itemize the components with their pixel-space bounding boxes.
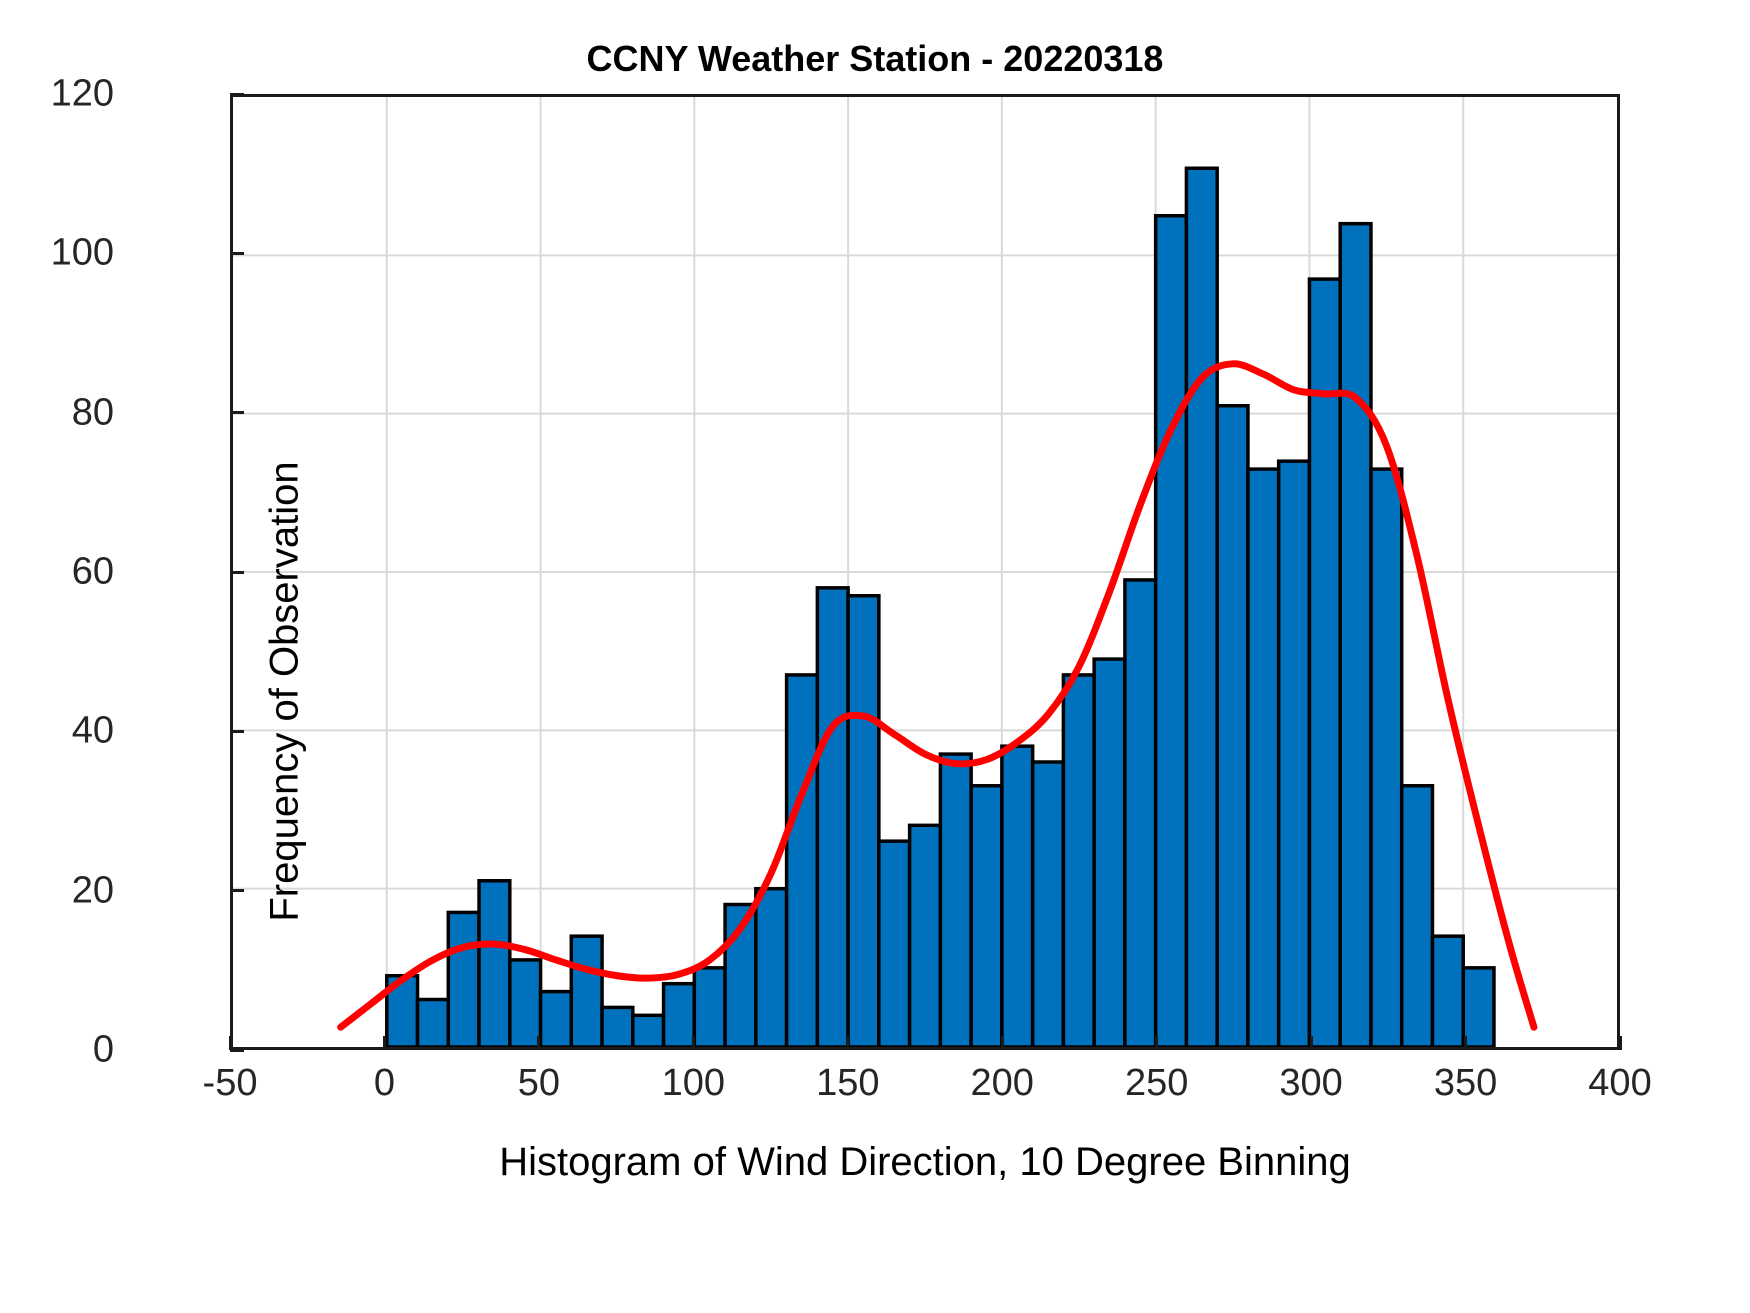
x-tick-mark: [383, 1036, 386, 1050]
histogram-bar: [541, 992, 572, 1047]
x-tick-label: 250: [1125, 1062, 1188, 1105]
x-tick-label: 100: [662, 1062, 725, 1105]
histogram-bar: [1002, 746, 1033, 1047]
x-tick-label: 350: [1434, 1062, 1497, 1105]
histogram-bar: [848, 596, 879, 1047]
y-tick-label: 60: [72, 551, 114, 594]
x-axis-label: Histogram of Wind Direction, 10 Degree B…: [230, 1140, 1620, 1185]
y-tick-mark: [230, 571, 244, 574]
chart-svg: [233, 97, 1617, 1047]
plot-area: Frequency of Observation: [230, 94, 1620, 1050]
y-tick-label: 20: [72, 869, 114, 912]
histogram-bar: [1156, 216, 1187, 1047]
histogram-bar: [756, 889, 787, 1047]
histogram-bar: [1094, 659, 1125, 1047]
histogram-bar: [448, 912, 479, 1047]
plot-inner: [233, 97, 1617, 1047]
y-tick-label: 80: [72, 391, 114, 434]
x-tick-mark: [1464, 1036, 1467, 1050]
histogram-bar: [1371, 469, 1402, 1047]
figure-canvas: CCNY Weather Station - 20220318 Frequenc…: [0, 0, 1750, 1313]
histogram-bar: [787, 675, 818, 1047]
histogram-bars: [387, 168, 1494, 1047]
histogram-bar: [479, 881, 510, 1047]
x-tick-mark: [846, 1036, 849, 1050]
y-tick-label: 0: [93, 1029, 114, 1072]
histogram-bar: [910, 825, 941, 1047]
x-tick-label: 400: [1588, 1062, 1651, 1105]
x-tick-mark: [1155, 1036, 1158, 1050]
x-tick-mark: [229, 1036, 232, 1050]
y-tick-mark: [230, 93, 244, 96]
x-tick-label: 50: [518, 1062, 560, 1105]
x-tick-label: -50: [203, 1062, 258, 1105]
histogram-bar: [817, 588, 848, 1047]
histogram-bar: [940, 754, 971, 1047]
histogram-bar: [1186, 168, 1217, 1047]
x-tick-label: 0: [374, 1062, 395, 1105]
histogram-bar: [1279, 461, 1310, 1047]
histogram-bar: [1463, 968, 1494, 1047]
histogram-bar: [1217, 406, 1248, 1047]
histogram-bar: [664, 984, 695, 1047]
chart-title: CCNY Weather Station - 20220318: [0, 38, 1750, 80]
y-tick-mark: [230, 411, 244, 414]
histogram-bar: [1432, 936, 1463, 1047]
histogram-bar: [418, 1000, 449, 1048]
y-tick-mark: [230, 730, 244, 733]
y-tick-mark: [230, 889, 244, 892]
x-tick-mark: [692, 1036, 695, 1050]
y-tick-mark: [230, 1049, 244, 1052]
histogram-bar: [571, 936, 602, 1047]
histogram-bar: [1248, 469, 1279, 1047]
x-tick-mark: [1001, 1036, 1004, 1050]
histogram-bar: [510, 960, 541, 1047]
x-tick-mark: [1310, 1036, 1313, 1050]
histogram-bar: [1063, 675, 1094, 1047]
x-tick-label: 150: [816, 1062, 879, 1105]
histogram-bar: [1125, 580, 1156, 1047]
y-tick-label: 100: [51, 232, 114, 275]
y-tick-mark: [230, 252, 244, 255]
y-tick-label: 120: [51, 73, 114, 116]
x-tick-mark: [1619, 1036, 1622, 1050]
histogram-bar: [694, 968, 725, 1047]
x-tick-label: 200: [971, 1062, 1034, 1105]
histogram-bar: [879, 841, 910, 1047]
histogram-bar: [971, 786, 1002, 1047]
y-axis-label: Frequency of Observation: [263, 342, 308, 1042]
x-tick-label: 300: [1279, 1062, 1342, 1105]
histogram-bar: [1033, 762, 1064, 1047]
histogram-bar: [1340, 224, 1371, 1047]
y-tick-label: 40: [72, 710, 114, 753]
histogram-bar: [602, 1007, 633, 1047]
histogram-bar: [1402, 786, 1433, 1047]
x-tick-mark: [537, 1036, 540, 1050]
histogram-bar: [633, 1015, 664, 1047]
